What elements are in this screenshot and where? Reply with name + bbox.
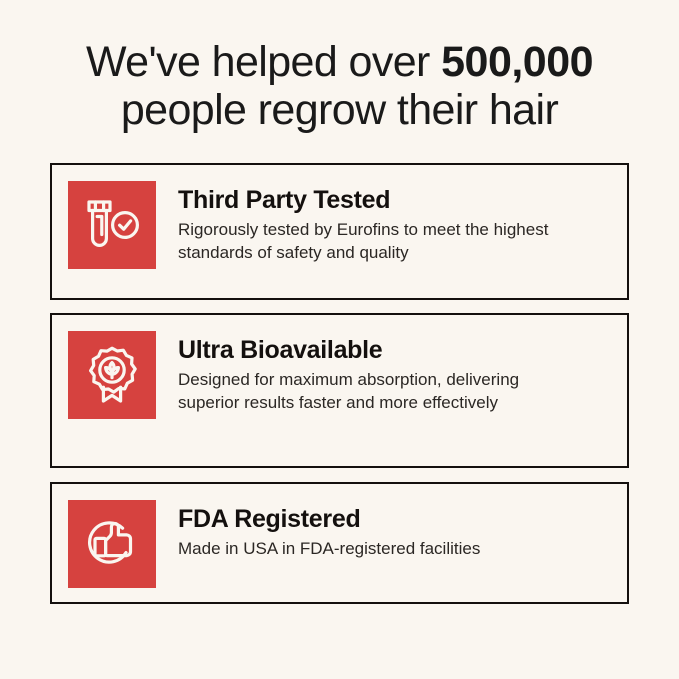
card-description: Designed for maximum absorption, deliver… xyxy=(178,368,578,414)
headline-prefix: We've helped over xyxy=(86,38,441,86)
feature-card-list: Third Party Tested Rigorously tested by … xyxy=(50,163,629,604)
card-description: Rigorously tested by Eurofins to meet th… xyxy=(178,218,578,264)
feature-card-fda-registered: FDA Registered Made in USA in FDA-regist… xyxy=(50,482,629,604)
test-tube-check-icon xyxy=(81,194,143,256)
card-text-third-party-tested: Third Party Tested Rigorously tested by … xyxy=(178,181,578,264)
award-badge-leaf-icon xyxy=(81,344,143,406)
feature-card-third-party-tested: Third Party Tested Rigorously tested by … xyxy=(50,163,629,300)
feature-card-ultra-bioavailable: Ultra Bioavailable Designed for maximum … xyxy=(50,313,629,468)
headline-line-2: people regrow their hair xyxy=(0,86,679,134)
card-title: FDA Registered xyxy=(178,504,480,534)
card-text-fda-registered: FDA Registered Made in USA in FDA-regist… xyxy=(178,500,480,560)
icon-tile-third-party-tested xyxy=(68,181,156,269)
card-description: Made in USA in FDA-registered facilities xyxy=(178,537,480,560)
card-text-ultra-bioavailable: Ultra Bioavailable Designed for maximum … xyxy=(178,331,578,414)
infographic-page: { "headline": { "line1_prefix": "We've h… xyxy=(0,0,679,679)
headline-line-1: We've helped over 500,000 xyxy=(0,38,679,86)
headline-highlight-number: 500,000 xyxy=(441,38,593,86)
card-title: Ultra Bioavailable xyxy=(178,335,578,365)
icon-tile-ultra-bioavailable xyxy=(68,331,156,419)
icon-tile-fda-registered xyxy=(68,500,156,588)
thumbs-up-icon xyxy=(81,513,143,575)
page-headline: We've helped over 500,000 people regrow … xyxy=(0,38,679,134)
card-title: Third Party Tested xyxy=(178,185,578,215)
